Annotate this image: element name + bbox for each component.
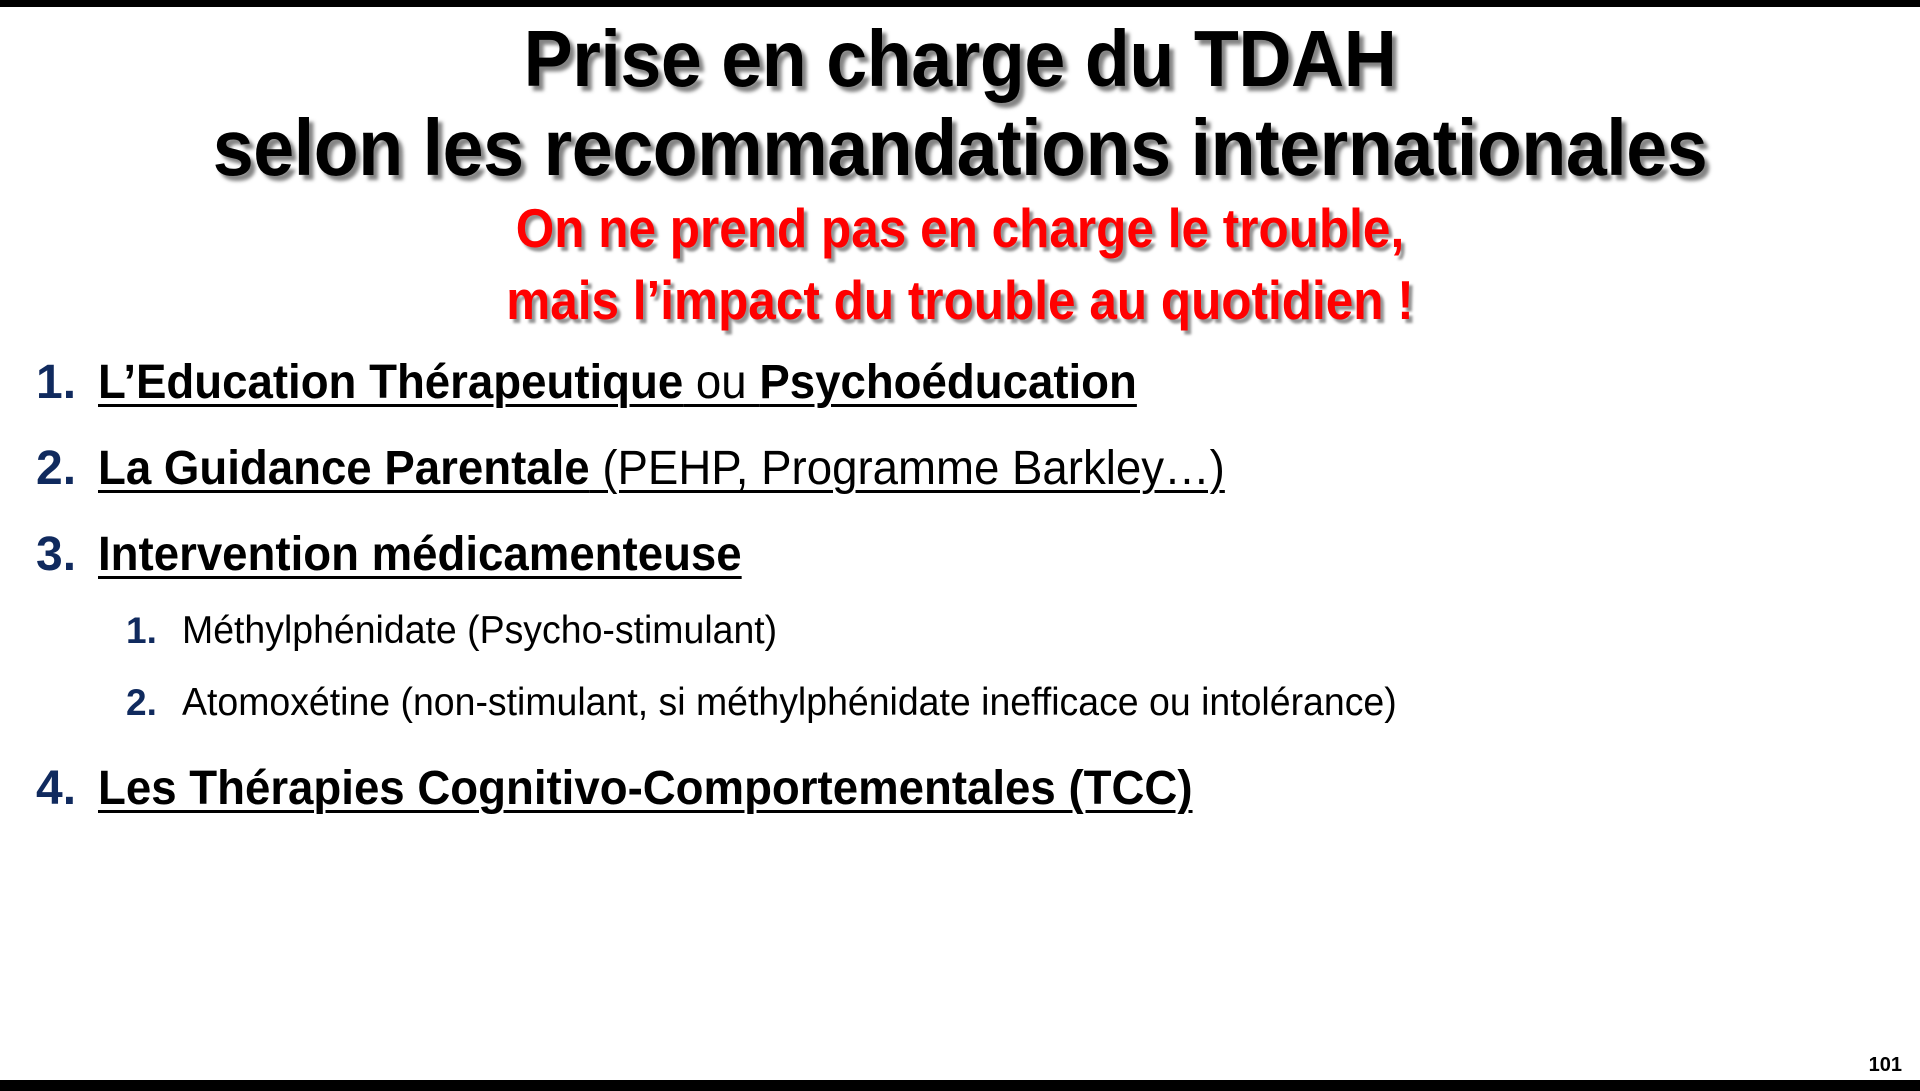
bottom-black-bar — [0, 1080, 1920, 1091]
sub-list-item: 2. Atomoxétine (non-stimulant, si méthyl… — [126, 669, 1896, 737]
subtitle-line-2: mais l’impact du trouble au quotidien ! — [96, 264, 1824, 336]
list-item: 1. L’Education Thérapeutique ou Psychoéd… — [36, 345, 1896, 421]
list-item: 2. La Guidance Parentale (PEHP, Programm… — [36, 431, 1896, 507]
sub-list-item: 1. Méthylphénidate (Psycho-stimulant) — [126, 597, 1896, 665]
page-title: Prise en charge du TDAH selon les recomm… — [0, 14, 1920, 192]
list-item-number: 4. — [36, 751, 98, 827]
list-item-bold-text: La Guidance Parentale — [98, 442, 590, 495]
list-item-bold-text: L’Education Thérapeutique — [98, 356, 683, 409]
page-number: 101 — [1869, 1055, 1902, 1075]
list-item-number: 3. — [36, 517, 98, 593]
sub-list-item-text: Méthylphénidate (Psycho-stimulant) — [182, 597, 1827, 665]
list-item-text: Les Thérapies Cognitivo-Comportementales… — [98, 751, 1806, 827]
list-item-number: 1. — [36, 345, 98, 421]
list-item-text: L’Education Thérapeutique ou Psychoéduca… — [98, 345, 1806, 421]
list-item-text: Intervention médicamenteuse — [98, 517, 1806, 593]
list-item: 4. Les Thérapies Cognitivo-Comportementa… — [36, 751, 1896, 827]
sub-list-item-number: 2. — [126, 669, 182, 737]
sub-list-item-number: 1. — [126, 597, 182, 665]
recommendations-list: 1. L’Education Thérapeutique ou Psychoéd… — [36, 345, 1896, 831]
sub-list-item-text: Atomoxétine (non-stimulant, si méthylphé… — [182, 669, 1622, 737]
list-item-bold-text-2: Psychoéducation — [759, 356, 1137, 409]
list-item-bold-text: Les Thérapies Cognitivo-Comportementales… — [98, 762, 1193, 815]
list-item-bold-text: Intervention médicamenteuse — [98, 528, 742, 581]
sub-list: 1. Méthylphénidate (Psycho-stimulant) 2.… — [126, 597, 1896, 737]
list-item-regular-text: ou — [683, 356, 759, 409]
list-item-number: 2. — [36, 431, 98, 507]
slide-root: Prise en charge du TDAH selon les recomm… — [0, 0, 1920, 1091]
list-item-text: La Guidance Parentale (PEHP, Programme B… — [98, 431, 1806, 507]
subtitle: On ne prend pas en charge le trouble, ma… — [0, 192, 1920, 336]
top-black-bar — [0, 0, 1920, 7]
title-line-1: Prise en charge du TDAH — [77, 14, 1843, 103]
title-line-2: selon les recommandations internationale… — [77, 103, 1843, 192]
list-item: 3. Intervention médicamenteuse — [36, 517, 1896, 593]
subtitle-line-1: On ne prend pas en charge le trouble, — [96, 192, 1824, 264]
list-item-regular-text: (PEHP, Programme Barkley…) — [590, 442, 1225, 495]
